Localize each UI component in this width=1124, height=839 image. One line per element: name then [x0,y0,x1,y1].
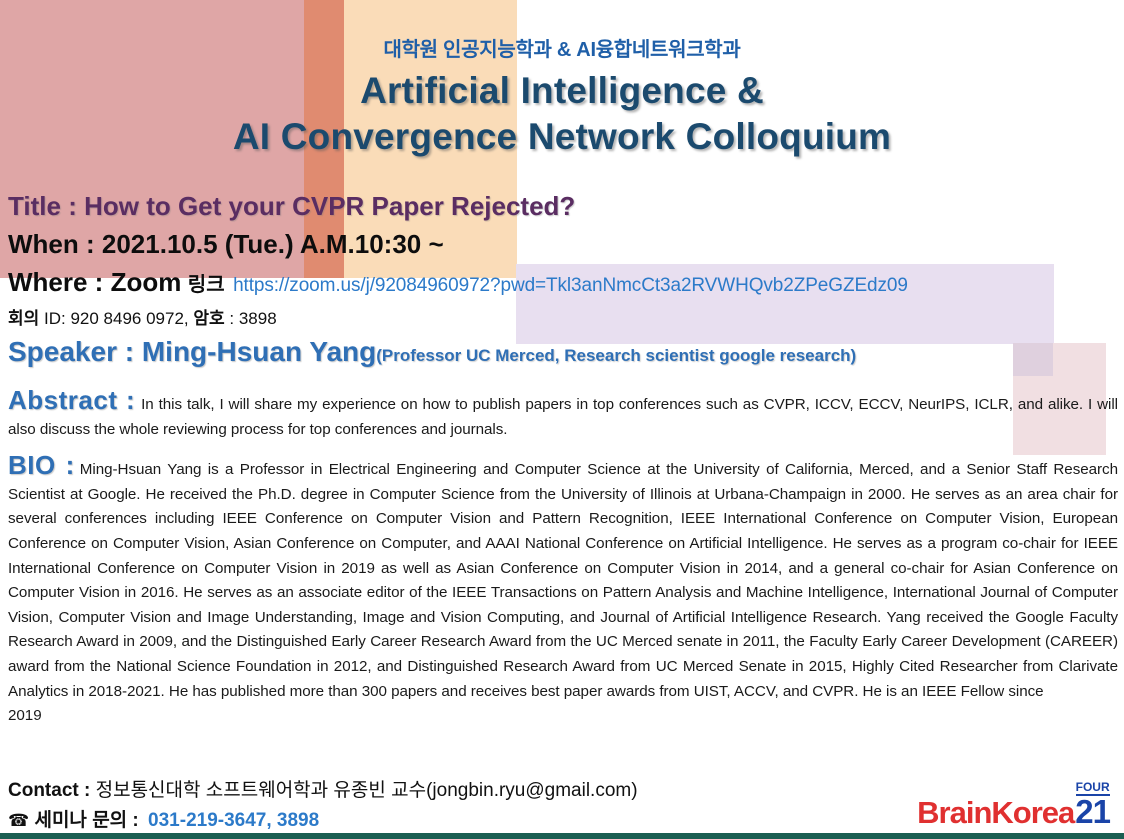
poster-header: 대학원 인공지능학과 & AI융합네트워크학과 Artificial Intel… [0,38,1124,161]
contact-label: Contact : [8,780,90,801]
event-title-value: How to Get your CVPR Paper Rejected? [84,191,575,221]
abstract-paragraph: Abstract :In this talk, I will share my … [8,385,1118,442]
brainkorea21-logo: BrainKorea FOUR 21 [917,781,1110,827]
event-where-row: Where : Zoom 링크 https://zoom.us/j/920849… [8,267,1118,298]
bk-21-numeral: 21 [1075,797,1110,827]
department-line: 대학원 인공지능학과 & AI융합네트워크학과 [0,38,1124,62]
bio-paragraph: BIO :Ming-Hsuan Yang is a Professor in E… [8,450,1118,704]
seminar-phone-number: 031-219-3647, 3898 [148,810,319,831]
bk21-numeral-group: FOUR 21 [1075,781,1110,827]
abstract-heading: Abstract : [8,385,135,415]
meeting-id-label: 회의 [8,309,39,328]
seminar-inquiry-row: ☎ 세미나 문의 : 031-219-3647, 3898 [8,808,1008,834]
bio-section: BIO :Ming-Hsuan Yang is a Professor in E… [8,450,1118,729]
event-where-link-word: 링크 [188,274,225,296]
bottom-accent-bar [0,833,1124,839]
contact-section: Contact : 정보통신대학 소프트웨어학과 유종빈 교수(jongbin.… [8,778,1008,833]
speaker-row: Speaker : Ming-Hsuan Yang(Professor UC M… [8,337,1118,368]
event-info-block: Title : How to Get your CVPR Paper Rejec… [8,192,1118,368]
contact-value: 정보통신대학 소프트웨어학과 유종빈 교수(jongbin.ryu@gmail.… [96,780,638,801]
speaker-affiliation: (Professor UC Merced, Research scientist… [376,346,856,365]
seminar-label: 세미나 문의 : [34,810,138,831]
event-title-label: Title : [8,191,77,221]
brainkorea-wordmark: BrainKorea [917,798,1074,827]
telephone-icon: ☎ [8,811,29,830]
abstract-body: In this talk, I will share my experience… [8,396,1118,438]
passcode-value: : 3898 [229,309,276,328]
bio-body: Ming-Hsuan Yang is a Professor in Electr… [8,461,1118,700]
bio-trailing-year: 2019 [8,704,1118,729]
colloquium-title-line-2: AI Convergence Network Colloquium [0,114,1124,160]
zoom-meeting-link[interactable]: https://zoom.us/j/92084960972?pwd=Tkl3an… [233,275,908,296]
event-when-value: 2021.10.5 (Tue.) A.M.10:30 ~ [102,229,444,259]
meeting-id-value: ID: 920 8496 0972, [44,309,189,328]
colloquium-title-line-1: Artificial Intelligence & [0,68,1124,114]
passcode-label: 암호 [193,309,224,328]
contact-row: Contact : 정보통신대학 소프트웨어학과 유종빈 교수(jongbin.… [8,778,1008,804]
meeting-credentials-row: 회의 ID: 920 8496 0972, 암호 : 3898 [8,304,1118,329]
poster-canvas: 대학원 인공지능학과 & AI융합네트워크학과 Artificial Intel… [0,0,1124,839]
event-when-label: When : [8,229,95,259]
event-title-row: Title : How to Get your CVPR Paper Rejec… [8,192,1118,222]
event-when-row: When : 2021.10.5 (Tue.) A.M.10:30 ~ [8,227,1118,261]
bio-heading: BIO : [8,450,75,480]
event-where-label: Where : Zoom [8,267,181,297]
abstract-section: Abstract :In this talk, I will share my … [8,385,1118,442]
speaker-name: Speaker : Ming-Hsuan Yang [8,336,376,367]
